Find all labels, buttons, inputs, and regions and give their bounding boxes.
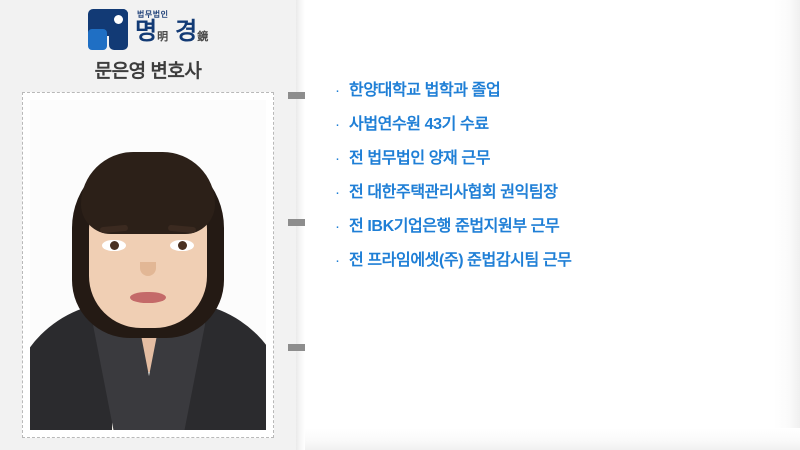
credentials-list: · 한양대학교 법학과 졸업 · 사법연수원 43기 수료 · 전 법무법인 양… xyxy=(335,78,775,282)
bullet-icon: · xyxy=(335,146,349,172)
credential-text: 전 프라임에셋(주) 준법감시팀 근무 xyxy=(349,248,571,274)
list-item: · 전 대한주택관리사협회 권익팀장 xyxy=(335,180,775,206)
credential-text: 전 법무법인 양재 근무 xyxy=(349,146,490,172)
firm-logo-mark-icon xyxy=(88,9,128,50)
portrait-photo xyxy=(30,100,266,430)
firm-name-ko-1: 명 xyxy=(135,20,156,44)
portrait-frame xyxy=(22,92,274,438)
credential-text: 전 대한주택관리사협회 권익팀장 xyxy=(349,180,558,206)
credential-text: 전 IBK기업은행 준법지원부 근무 xyxy=(349,214,559,240)
bullet-icon: · xyxy=(335,180,349,206)
firm-logo: 법무법인 명 明 경 鏡 xyxy=(88,9,208,50)
firm-name-hanja-1: 明 xyxy=(157,32,168,44)
bullet-icon: · xyxy=(335,214,349,240)
attorney-name: 문은영 변호사 xyxy=(0,56,296,83)
right-panel: · 한양대학교 법학과 졸업 · 사법연수원 43기 수료 · 전 법무법인 양… xyxy=(305,0,800,450)
bottom-edge-sheen xyxy=(305,428,800,450)
attorney-profile-card: 법무법인 명 明 경 鏡 문은영 변호사 xyxy=(0,0,800,450)
firm-name-ko-2: 경 xyxy=(175,20,196,44)
right-edge-sheen xyxy=(774,0,800,450)
bullet-icon: · xyxy=(335,112,349,138)
firm-name-hanja-2: 鏡 xyxy=(197,32,208,44)
list-item: · 전 IBK기업은행 준법지원부 근무 xyxy=(335,214,775,240)
list-item: · 한양대학교 법학과 졸업 xyxy=(335,78,775,104)
list-item: · 전 법무법인 양재 근무 xyxy=(335,146,775,172)
credential-text: 사법연수원 43기 수료 xyxy=(349,112,489,138)
firm-logo-text: 법무법인 명 明 경 鏡 xyxy=(135,9,208,44)
bullet-icon: · xyxy=(335,248,349,274)
list-item: · 사법연수원 43기 수료 xyxy=(335,112,775,138)
list-item: · 전 프라임에셋(주) 준법감시팀 근무 xyxy=(335,248,775,274)
credential-text: 한양대학교 법학과 졸업 xyxy=(349,78,500,104)
bullet-icon: · xyxy=(335,78,349,104)
